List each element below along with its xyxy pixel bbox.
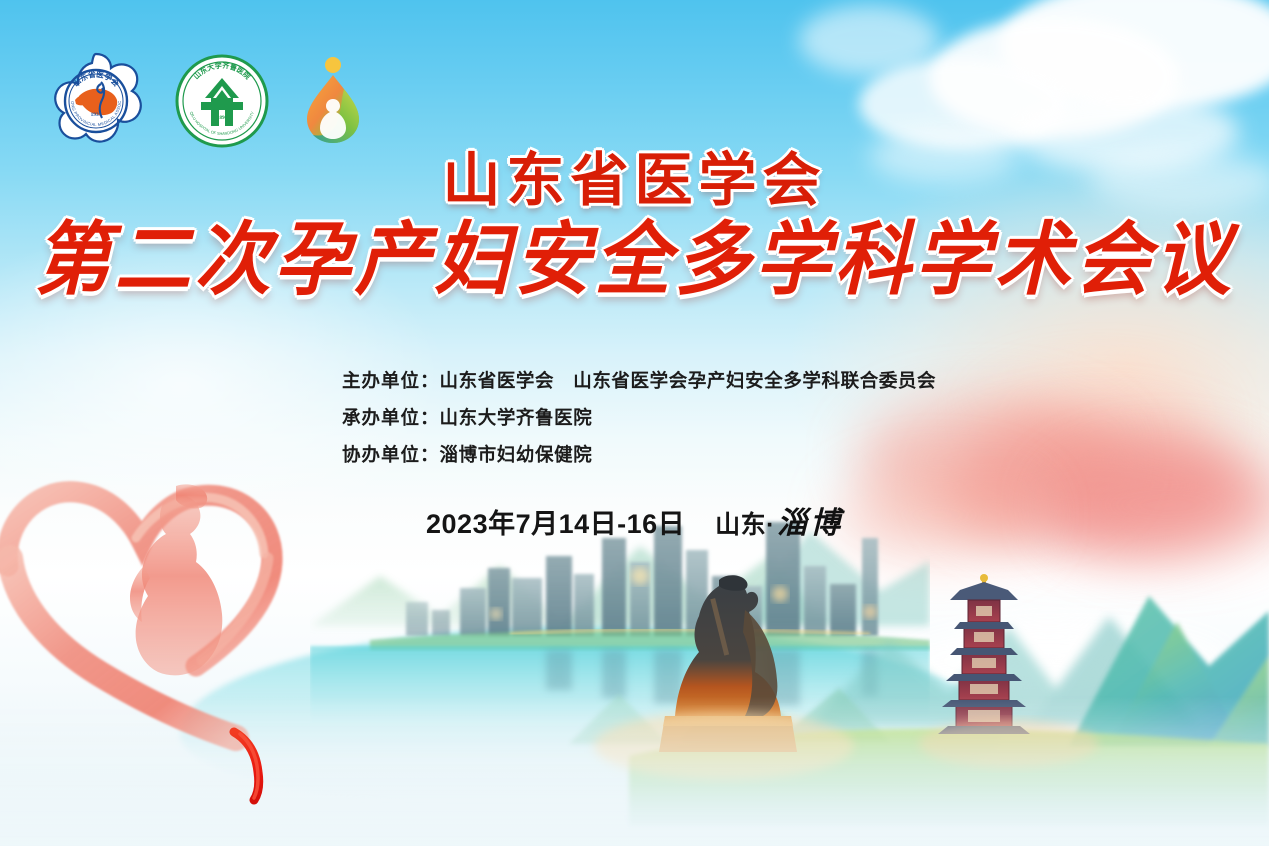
organizer-value: 淄博市妇幼保健院	[440, 444, 593, 465]
organizer-row: 协办单位：淄博市妇幼保健院	[342, 436, 936, 473]
event-location-prefix: 山东·	[715, 505, 775, 541]
event-date-location: 2023年7月14日-16日 山东· 淄博	[0, 498, 1269, 542]
organizer-row: 主办单位：山东省医学会 山东省医学会孕产妇安全多学科联合委员会	[342, 362, 936, 399]
organizer-value: 山东大学齐鲁医院	[440, 407, 593, 428]
event-date: 2023年7月14日-16日	[426, 502, 685, 541]
brush-heart-artwork	[0, 438, 326, 808]
zibo-landscape-artwork	[509, 426, 1269, 846]
conference-poster: 1931 山东省医学会 SHANDONG PROVINCIAL MEDICAL …	[0, 0, 1269, 846]
logo-row: 1931 山东省医学会 SHANDONG PROVINCIAL MEDICAL …	[45, 50, 369, 152]
organizer-label: 协办单位：	[342, 444, 440, 465]
title-block: 山东省医学会 第二次孕产妇安全多学科学术会议	[0, 150, 1269, 304]
organizer-label: 主办单位：	[342, 370, 440, 391]
event-location-city: 淄博	[777, 498, 843, 542]
svg-text:1931: 1931	[91, 112, 102, 118]
page-title-line2: 第二次孕产妇安全多学科学术会议	[0, 216, 1269, 305]
organizer-label: 承办单位：	[342, 407, 440, 428]
organizer-row: 承办单位：山东大学齐鲁医院	[342, 399, 936, 436]
organizer-block: 主办单位：山东省医学会 山东省医学会孕产妇安全多学科联合委员会 承办单位：山东大…	[342, 362, 936, 473]
page-title-line1: 山东省医学会	[0, 150, 1269, 213]
zibo-maternal-child-health-hospital-logo	[297, 53, 369, 149]
svg-text:1890: 1890	[217, 116, 228, 121]
shandong-provincial-medical-association-logo: 1931 山东省医学会 SHANDONG PROVINCIAL MEDICAL …	[45, 50, 147, 152]
organizer-value: 山东省医学会 山东省医学会孕产妇安全多学科联合委员会	[440, 370, 937, 391]
qilu-hospital-shandong-university-logo: 1890 山东大学齐鲁医院 QILU HOSPITAL OF SHANDONG …	[173, 52, 271, 150]
